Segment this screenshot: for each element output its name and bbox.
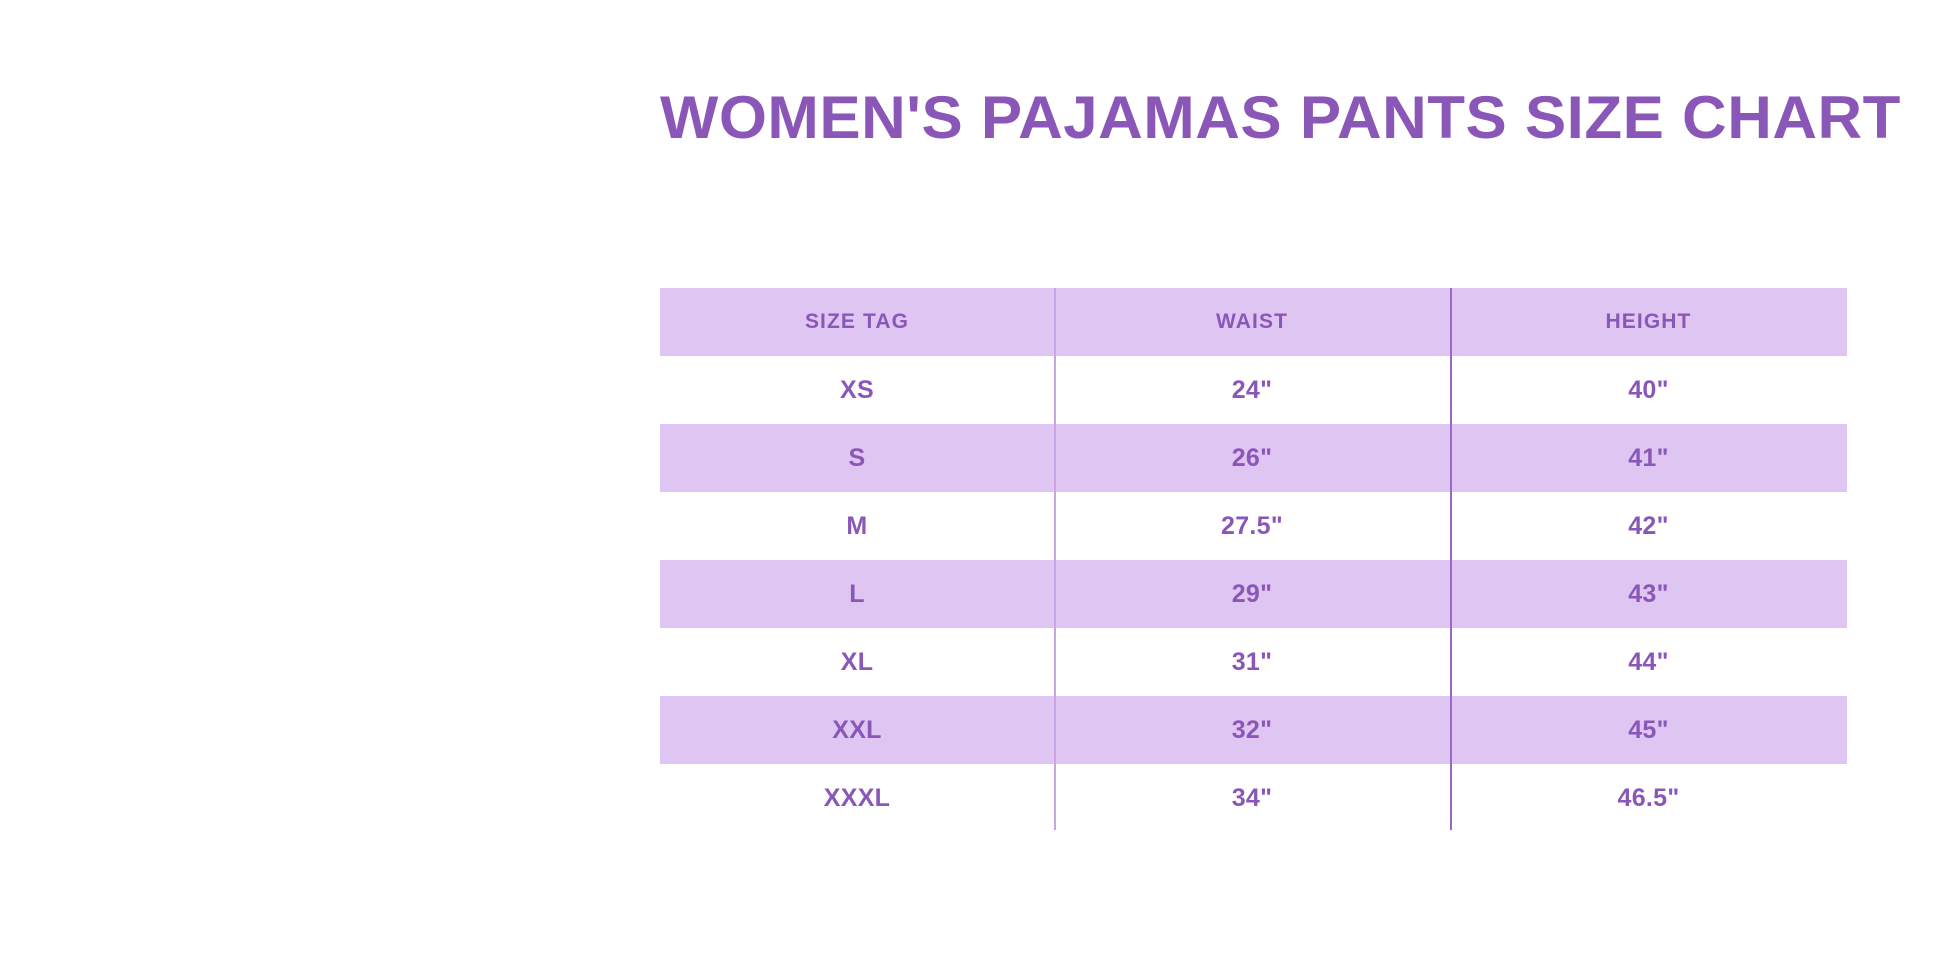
table-row: XXL32"45" — [660, 696, 1847, 764]
table-header-row: SIZE TAG WAIST HEIGHT — [660, 288, 1847, 356]
table-body: XS24"40"S26"41"M27.5"42"L29"43"XL31"44"X… — [660, 356, 1847, 832]
cell-height: 43" — [1450, 560, 1847, 628]
cell-waist: 31" — [1054, 628, 1450, 696]
cell-waist: 29" — [1054, 560, 1450, 628]
column-divider-1 — [1054, 288, 1056, 830]
column-header-size-tag: SIZE TAG — [660, 288, 1054, 356]
cell-size-tag: L — [660, 560, 1054, 628]
column-header-waist: WAIST — [1054, 288, 1450, 356]
cell-waist: 34" — [1054, 764, 1450, 832]
cell-height: 44" — [1450, 628, 1847, 696]
cell-height: 42" — [1450, 492, 1847, 560]
table-row: M27.5"42" — [660, 492, 1847, 560]
cell-height: 45" — [1450, 696, 1847, 764]
column-header-height: HEIGHT — [1450, 288, 1847, 356]
cell-waist: 27.5" — [1054, 492, 1450, 560]
cell-height: 40" — [1450, 356, 1847, 424]
table-header: SIZE TAG WAIST HEIGHT — [660, 288, 1847, 356]
table-row: XS24"40" — [660, 356, 1847, 424]
cell-size-tag: XL — [660, 628, 1054, 696]
cell-size-tag: M — [660, 492, 1054, 560]
table-row: XXXL34"46.5" — [660, 764, 1847, 832]
column-divider-2 — [1450, 288, 1452, 830]
cell-waist: 24" — [1054, 356, 1450, 424]
table-row: XL31"44" — [660, 628, 1847, 696]
size-chart-page: WOMEN'S PAJAMAS PANTS SIZE CHART SIZE TA… — [0, 0, 1946, 973]
cell-height: 46.5" — [1450, 764, 1847, 832]
size-chart-table: SIZE TAG WAIST HEIGHT XS24"40"S26"41"M27… — [660, 288, 1847, 832]
cell-size-tag: XS — [660, 356, 1054, 424]
table-row: L29"43" — [660, 560, 1847, 628]
cell-waist: 32" — [1054, 696, 1450, 764]
table-row: S26"41" — [660, 424, 1847, 492]
cell-size-tag: XXXL — [660, 764, 1054, 832]
cell-waist: 26" — [1054, 424, 1450, 492]
page-title: WOMEN'S PAJAMAS PANTS SIZE CHART — [660, 86, 1946, 150]
cell-size-tag: S — [660, 424, 1054, 492]
cell-size-tag: XXL — [660, 696, 1054, 764]
cell-height: 41" — [1450, 424, 1847, 492]
